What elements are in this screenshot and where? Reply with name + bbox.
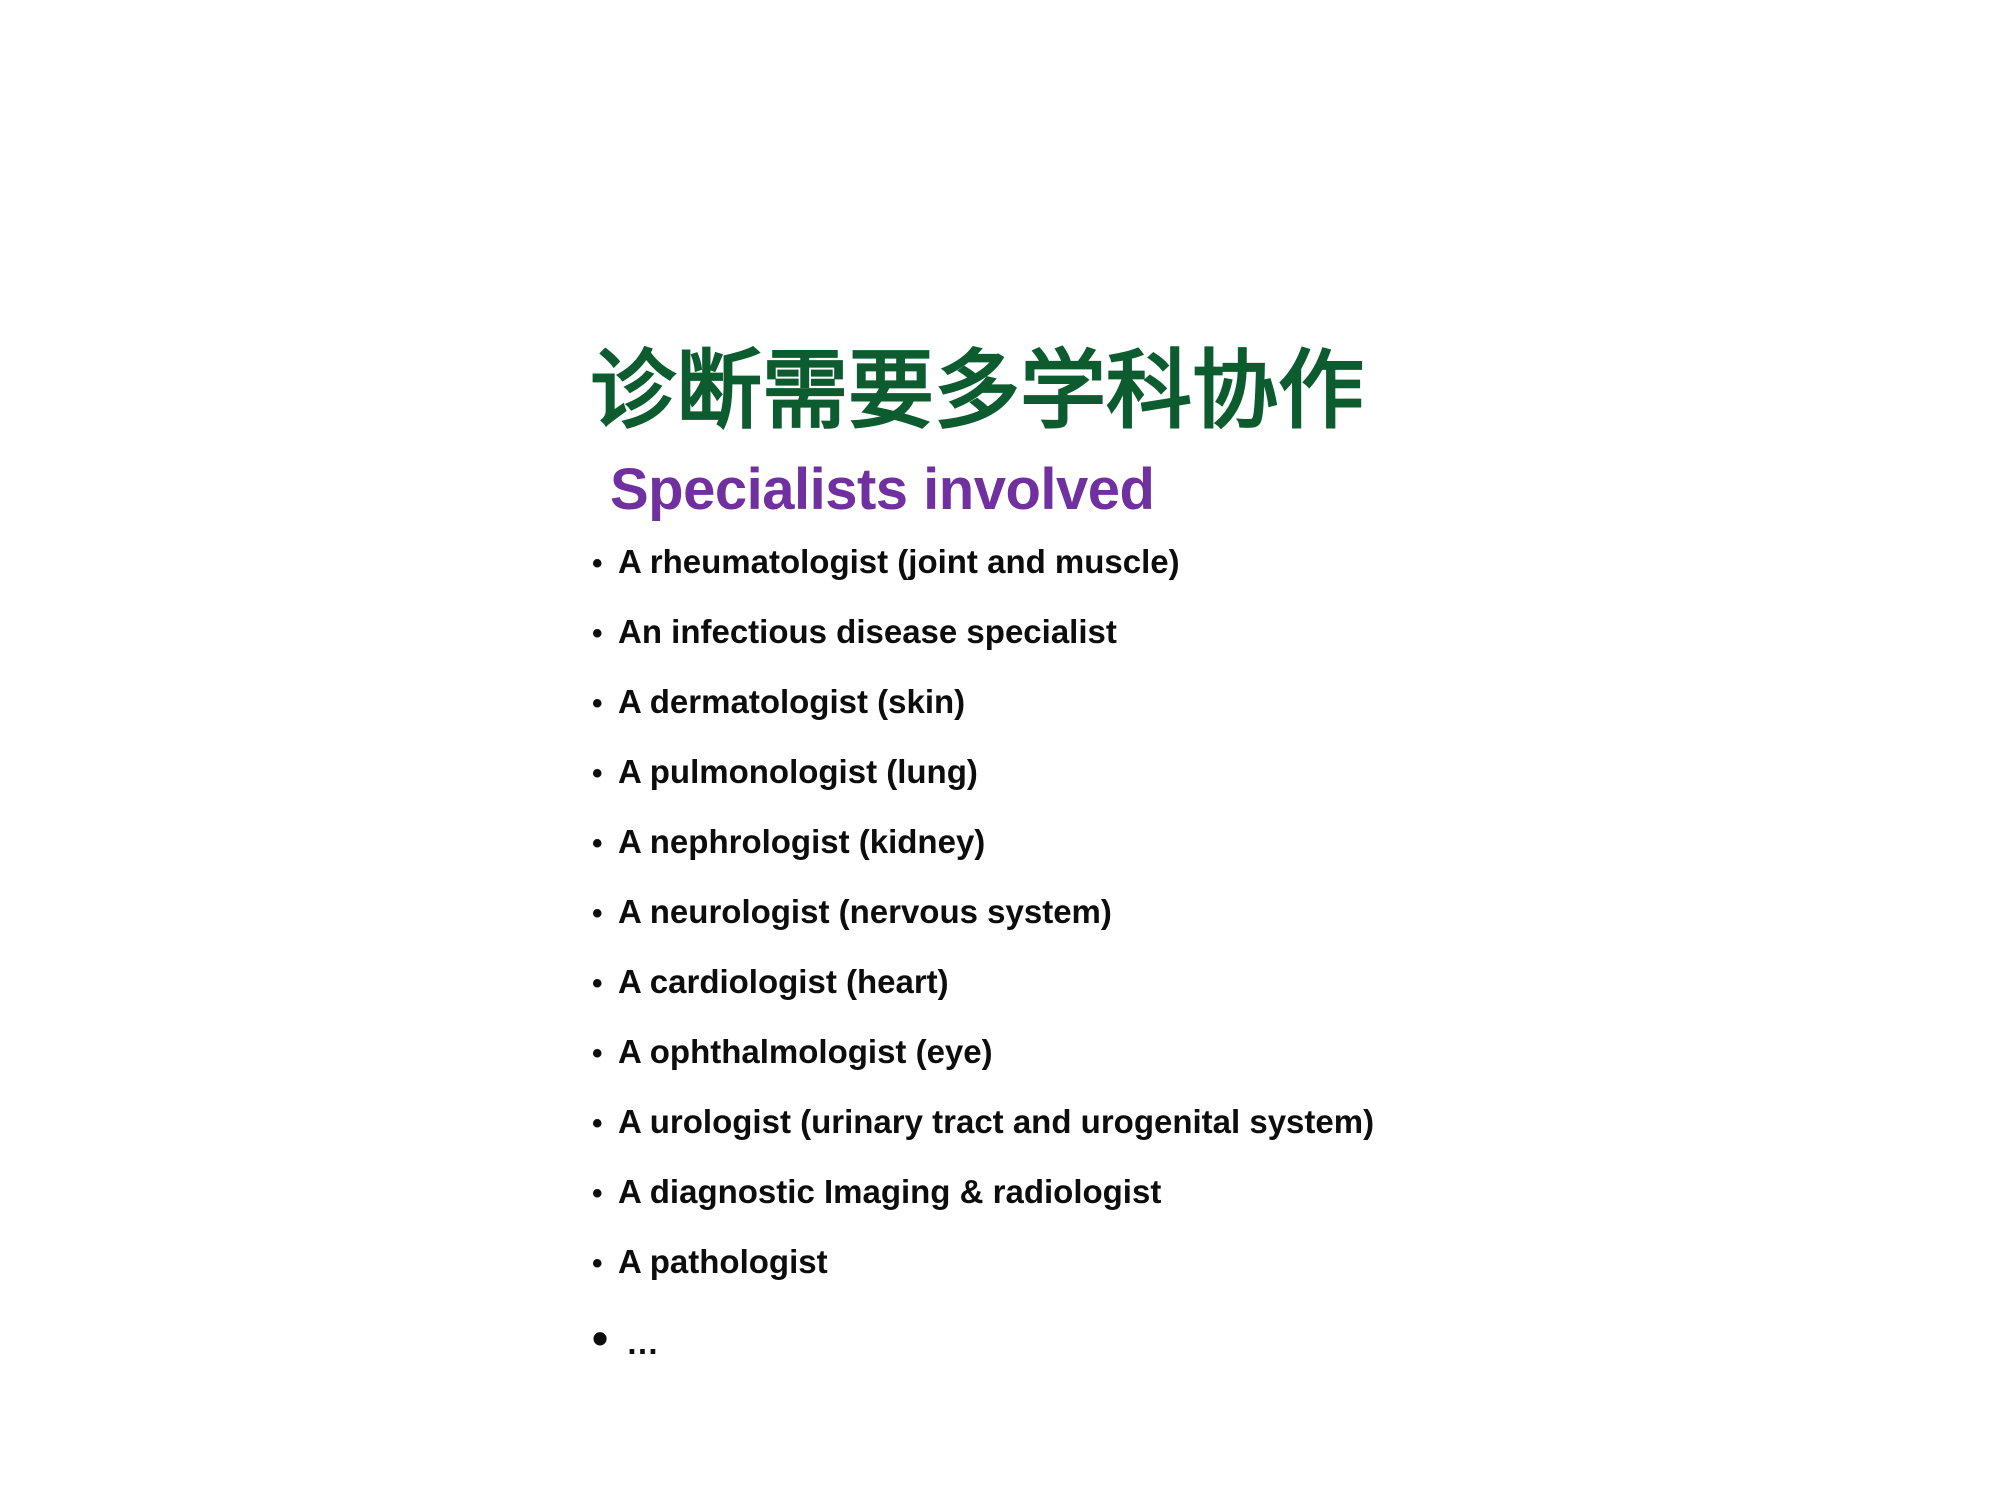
bullet-dot-icon: • — [592, 829, 618, 859]
list-item: • An infectious disease specialist — [592, 615, 1952, 685]
list-item-label: … — [618, 1326, 661, 1359]
bullet-dot-icon: • — [592, 549, 618, 579]
list-item: • A neurologist (nervous system) — [592, 895, 1952, 965]
list-item-label: A neurologist (nervous system) — [618, 895, 1112, 928]
list-item-label: A diagnostic Imaging & radiologist — [618, 1175, 1161, 1208]
bullet-dot-icon: • — [592, 1249, 618, 1279]
specialists-bullet-list: • A rheumatologist (joint and muscle) • … — [592, 545, 1952, 1385]
list-item: • A rheumatologist (joint and muscle) — [592, 545, 1952, 615]
bullet-dot-icon: • — [592, 619, 618, 649]
list-item-label: A nephrologist (kidney) — [618, 825, 985, 858]
bullet-dot-icon: • — [592, 899, 618, 929]
list-item: • A diagnostic Imaging & radiologist — [592, 1175, 1952, 1245]
list-item-label: A dermatologist (skin) — [618, 685, 965, 718]
list-item: • A pathologist — [592, 1245, 1952, 1315]
list-item-label: An infectious disease specialist — [618, 615, 1117, 648]
list-item-label: A cardiologist (heart) — [618, 965, 949, 998]
bullet-dot-icon: • — [592, 1109, 618, 1139]
list-item-label: A pathologist — [618, 1245, 828, 1278]
bullet-dot-icon: • — [592, 689, 618, 719]
list-item: • A pulmonologist (lung) — [592, 755, 1952, 825]
slide-canvas: 诊断需要多学科协作 Specialists involved • A rheum… — [0, 0, 2000, 1500]
list-item-label: A urologist (urinary tract and urogenita… — [618, 1105, 1374, 1138]
content-body: Specialists involved • A rheumatologist … — [592, 460, 1952, 1385]
bullet-dot-icon: • — [592, 759, 618, 789]
list-item-label: A ophthalmologist (eye) — [618, 1035, 993, 1068]
bullet-dot-icon: • — [592, 1039, 618, 1069]
list-item: • A cardiologist (heart) — [592, 965, 1952, 1035]
bullet-dot-icon: • — [592, 1179, 618, 1209]
list-item: • A nephrologist (kidney) — [592, 825, 1952, 895]
list-item-label: A rheumatologist (joint and muscle) — [618, 545, 1180, 578]
section-heading-specialists: Specialists involved — [610, 460, 1952, 521]
page-title: 诊断需要多学科协作 — [590, 348, 1790, 434]
bullet-dot-icon: • — [592, 1315, 618, 1361]
bullet-dot-icon: • — [592, 969, 618, 999]
list-item: • A dermatologist (skin) — [592, 685, 1952, 755]
list-item-label: A pulmonologist (lung) — [618, 755, 978, 788]
list-item: • … — [592, 1315, 1952, 1385]
list-item: • A urologist (urinary tract and urogeni… — [592, 1105, 1952, 1175]
list-item: • A ophthalmologist (eye) — [592, 1035, 1952, 1105]
